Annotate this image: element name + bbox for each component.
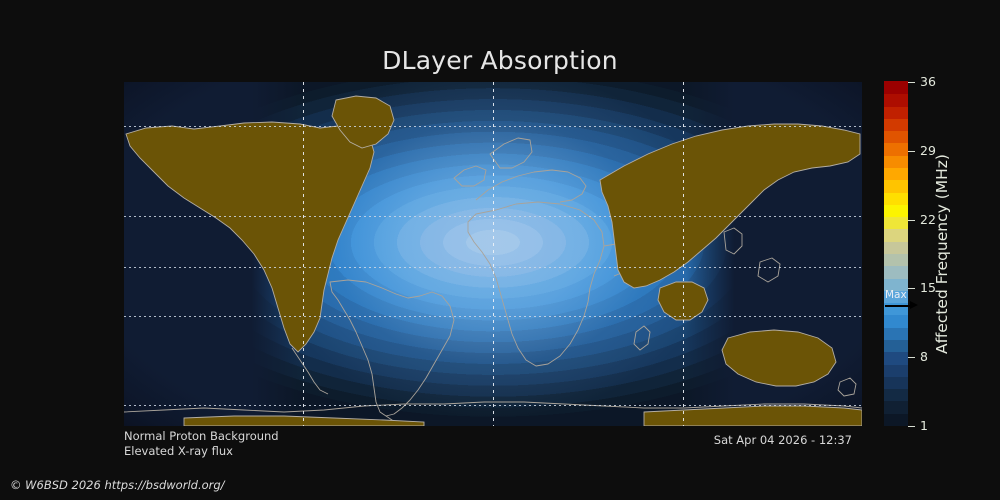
colorbar-band (884, 81, 908, 94)
longitude-line-west (303, 82, 304, 426)
colorbar-tick-mark (908, 426, 915, 427)
colorbar-band (884, 204, 908, 217)
colorbar-band (884, 229, 908, 242)
colorbar-band (884, 352, 908, 365)
copyright-footer: © W6BSD 2026 https://bsdworld.org/ (10, 478, 225, 492)
colorbar-tick-mark (908, 357, 915, 358)
colorbar-band (884, 180, 908, 193)
timestamp-label: Sat Apr 04 2026 - 12:37 (714, 433, 852, 447)
page-title: DLayer Absorption (0, 46, 1000, 75)
app-root: DLayer Absorption (0, 0, 1000, 500)
graticule (124, 82, 862, 426)
colorbar-band (884, 167, 908, 180)
colorbar-band (884, 266, 908, 279)
colorbar-tick-mark (908, 220, 915, 221)
colorbar-tick-label: 8 (920, 349, 928, 364)
colorbar-band (884, 315, 908, 328)
colorbar-band (884, 401, 908, 414)
colorbar-band (884, 217, 908, 230)
map-inner (124, 82, 862, 426)
colorbar[interactable] (884, 82, 908, 426)
colorbar-gradient (884, 82, 908, 426)
longitude-line-east (683, 82, 684, 426)
colorbar-band (884, 106, 908, 119)
colorbar-tick-mark (908, 151, 915, 152)
status-line-proton: Normal Proton Background (124, 429, 279, 444)
colorbar-tick-label: 1 (920, 418, 928, 433)
colorbar-band (884, 131, 908, 144)
colorbar-band (884, 253, 908, 266)
colorbar-band (884, 413, 908, 426)
colorbar-band (884, 389, 908, 402)
colorbar-max-arrow-icon (884, 301, 930, 310)
colorbar-max-label: Max (884, 290, 930, 301)
longitude-line-prime (493, 82, 494, 426)
colorbar-band (884, 339, 908, 352)
colorbar-band (884, 94, 908, 107)
colorbar-axis-title: Affected Frequency (MHz) (930, 82, 954, 426)
world-map-panel[interactable] (124, 82, 862, 426)
colorbar-tick-mark (908, 82, 915, 83)
colorbar-band (884, 364, 908, 377)
colorbar-band (884, 155, 908, 168)
status-line-xray: Elevated X-ray flux (124, 444, 279, 459)
colorbar-band (884, 118, 908, 131)
colorbar-band (884, 327, 908, 340)
colorbar-band (884, 192, 908, 205)
colorbar-band (884, 143, 908, 156)
colorbar-max-marker: Max (884, 290, 930, 310)
colorbar-band (884, 376, 908, 389)
colorbar-band (884, 241, 908, 254)
status-block: Normal Proton Background Elevated X-ray … (124, 429, 279, 459)
